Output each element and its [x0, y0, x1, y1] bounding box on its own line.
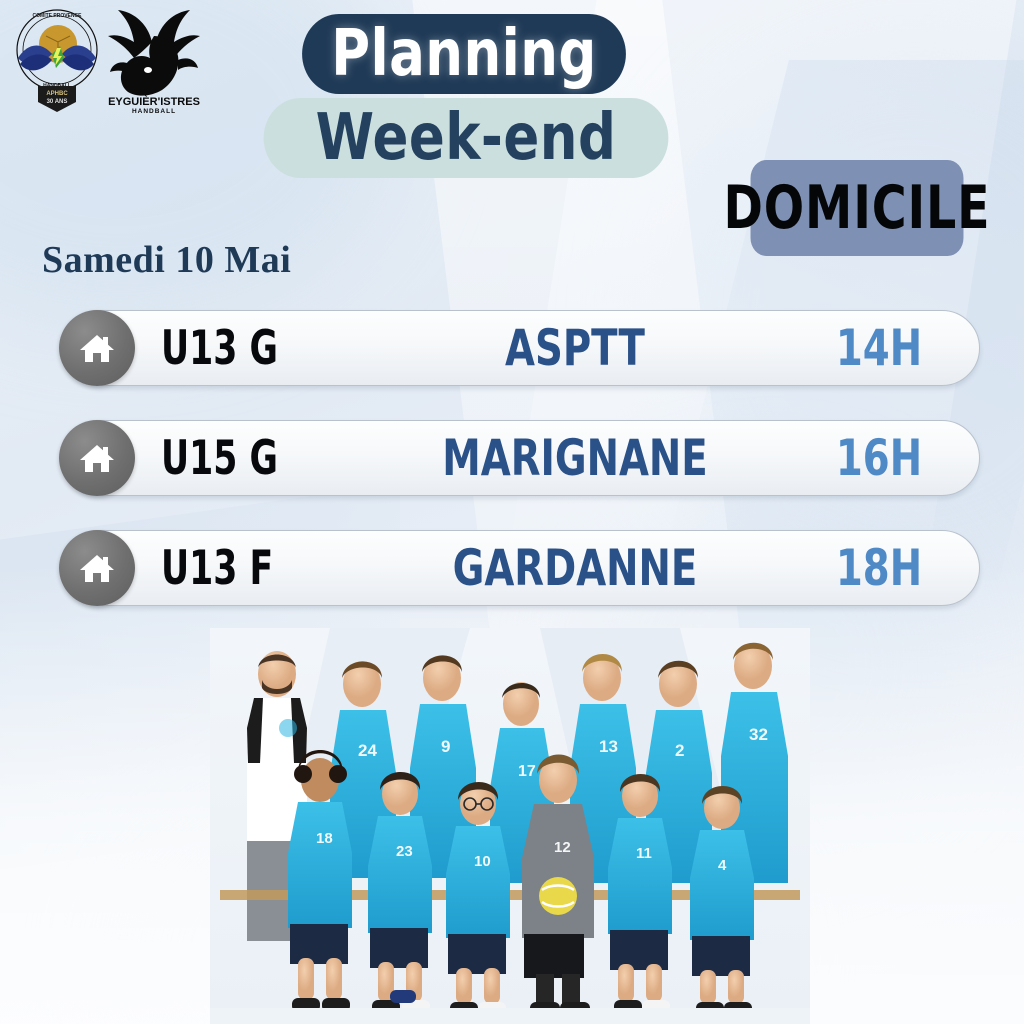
match-list: U13 G ASPTT 14H U15 G MARIGNANE 16H U13 … — [0, 310, 1024, 640]
svg-text:30 ANS: 30 ANS — [47, 99, 68, 105]
match-opponent: GARDANNE — [400, 539, 751, 597]
status-badge-domicile: DOMICILE — [751, 160, 964, 256]
svg-text:24: 24 — [358, 741, 377, 760]
table-row[interactable]: U13 G ASPTT 14H — [64, 310, 980, 386]
svg-text:COMITE PROVENCE: COMITE PROVENCE — [33, 13, 83, 19]
match-opponent: ASPTT — [400, 319, 751, 377]
match-time: 14H — [793, 319, 965, 377]
comite-provence-handball-crest: COMITE PROVENCE HANDBALL APHBC 30 ANS — [8, 2, 106, 114]
table-row[interactable]: U15 G MARIGNANE 16H — [64, 420, 980, 496]
match-opponent: MARIGNANE — [400, 429, 751, 487]
match-time: 18H — [793, 539, 965, 597]
svg-text:12: 12 — [554, 839, 571, 856]
svg-text:9: 9 — [441, 737, 450, 756]
svg-text:10: 10 — [474, 853, 491, 870]
svg-text:2: 2 — [675, 741, 684, 760]
svg-text:4: 4 — [718, 857, 727, 874]
club-logos: COMITE PROVENCE HANDBALL APHBC 30 ANS — [8, 2, 208, 117]
svg-text:23: 23 — [396, 843, 413, 860]
table-row[interactable]: U13 F GARDANNE 18H — [64, 530, 980, 606]
home-icon — [59, 310, 135, 386]
match-category: U13 F — [161, 541, 333, 596]
svg-text:13: 13 — [599, 737, 618, 756]
schedule-date: Samedi 10 Mai — [42, 238, 291, 282]
home-icon — [59, 420, 135, 496]
page-title-weekend: Week-end — [264, 98, 669, 178]
svg-text:32: 32 — [749, 725, 768, 744]
svg-text:18: 18 — [316, 830, 333, 847]
logo-club-subtitle: HANDBALL — [132, 108, 176, 114]
page-title-planning: Planning — [302, 14, 626, 94]
match-category: U13 G — [161, 321, 333, 376]
logo-club-name: EYGUIÈR'ISTRES — [108, 95, 200, 108]
team-photo: 24 9 17 13 — [210, 628, 810, 1024]
match-category: U15 G — [161, 431, 333, 486]
svg-text:11: 11 — [636, 845, 652, 862]
svg-text:APHBC: APHBC — [46, 91, 68, 97]
match-time: 16H — [793, 429, 965, 487]
eyguieristres-handball-logo: EYGUIÈR'ISTRES HANDBALL — [104, 2, 204, 114]
home-icon — [59, 530, 135, 606]
svg-text:17: 17 — [518, 763, 536, 780]
